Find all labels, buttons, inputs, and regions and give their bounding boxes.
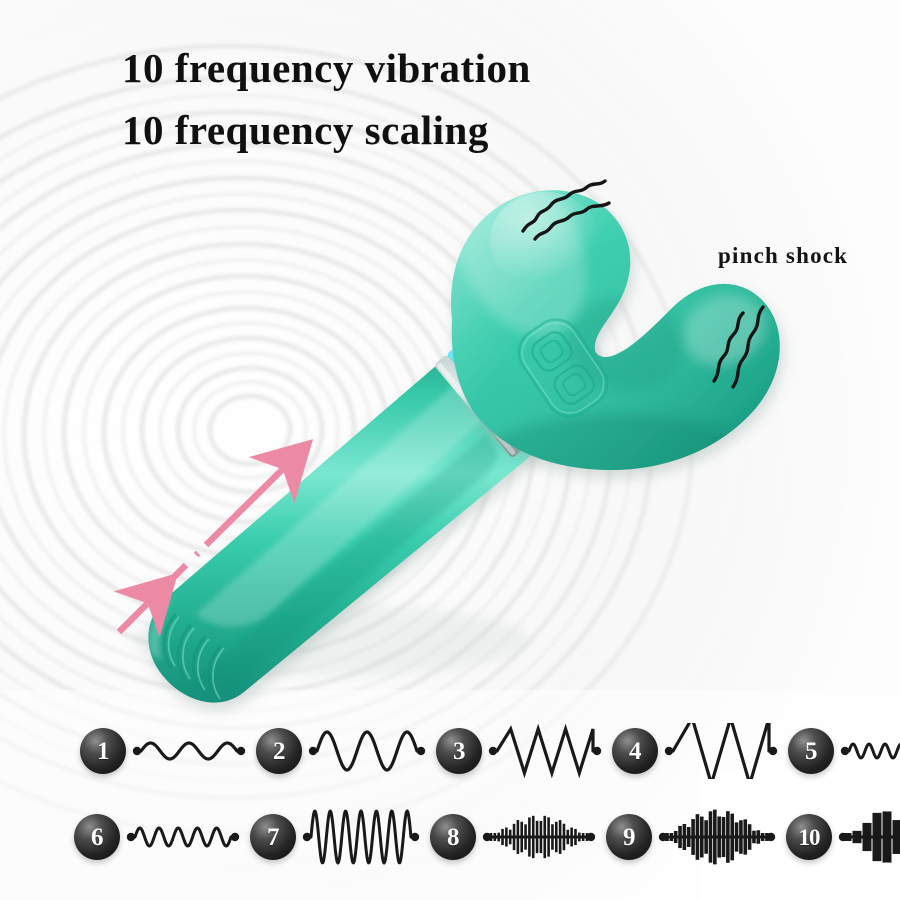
- mode-badge-number: 3: [453, 739, 465, 764]
- vibration-modes-legend: 12345 678910: [0, 700, 900, 890]
- wave-bar-waveform-wide-icon: [836, 809, 900, 865]
- mode-badge-number: 8: [447, 825, 459, 850]
- vibration-mode-6[interactable]: 6: [74, 809, 242, 865]
- mode-badge-4[interactable]: 4: [612, 728, 658, 774]
- mode-badge-number: 5: [805, 739, 817, 764]
- wave-medium-sine-icon: [306, 723, 428, 779]
- vibration-mode-8[interactable]: 8: [430, 809, 598, 865]
- mode-badge-number: 6: [91, 825, 103, 850]
- mode-badge-3[interactable]: 3: [436, 728, 482, 774]
- wave-bar-waveform-narrow-icon: [480, 809, 598, 865]
- vibration-mode-4[interactable]: 4: [612, 723, 780, 779]
- mode-badge-number: 7: [267, 825, 279, 850]
- product-feature-graphic: 12345 678910 10 frequency vibration10 fr…: [0, 0, 900, 900]
- mode-badge-9[interactable]: 9: [606, 814, 652, 860]
- mode-badge-6[interactable]: 6: [74, 814, 120, 860]
- vibration-mode-10[interactable]: 10: [786, 809, 900, 865]
- mode-badge-8[interactable]: 8: [430, 814, 476, 860]
- headline-frequency-vibration: 10 frequency vibration: [122, 48, 531, 89]
- vibration-mode-2[interactable]: 2: [256, 723, 428, 779]
- vibration-mode-9[interactable]: 9: [606, 809, 778, 865]
- vibration-mode-5[interactable]: 5: [788, 723, 900, 779]
- wave-tight-ripple-wide-icon: [124, 809, 242, 865]
- wave-sharp-zigzag-small-icon: [486, 723, 604, 779]
- headline-frequency-scaling: 10 frequency scaling: [122, 110, 489, 151]
- wave-dense-tall-sine-icon: [300, 809, 422, 865]
- vibration-mode-1[interactable]: 1: [80, 723, 248, 779]
- mode-badge-number: 10: [799, 826, 820, 849]
- mode-badge-number: 2: [273, 739, 285, 764]
- vibration-mode-7[interactable]: 7: [250, 809, 422, 865]
- vibration-modes-row-2: 678910: [0, 790, 900, 880]
- mode-badge-number: 1: [97, 739, 109, 764]
- mode-badge-2[interactable]: 2: [256, 728, 302, 774]
- wave-tight-ripple-icon: [838, 723, 900, 779]
- wave-bar-waveform-medium-icon: [656, 809, 778, 865]
- vibration-modes-row-1: 12345: [0, 704, 900, 794]
- mode-badge-10[interactable]: 10: [786, 814, 832, 860]
- wave-sharp-zigzag-large-icon: [662, 723, 780, 779]
- mode-badge-5[interactable]: 5: [788, 728, 834, 774]
- mode-badge-1[interactable]: 1: [80, 728, 126, 774]
- mode-badge-number: 9: [623, 825, 635, 850]
- pinch-shock-label: pinch shock: [718, 243, 848, 269]
- vibration-mode-3[interactable]: 3: [436, 723, 604, 779]
- wave-soft-sine-low-icon: [130, 723, 248, 779]
- mode-badge-7[interactable]: 7: [250, 814, 296, 860]
- mode-badge-number: 4: [629, 739, 641, 764]
